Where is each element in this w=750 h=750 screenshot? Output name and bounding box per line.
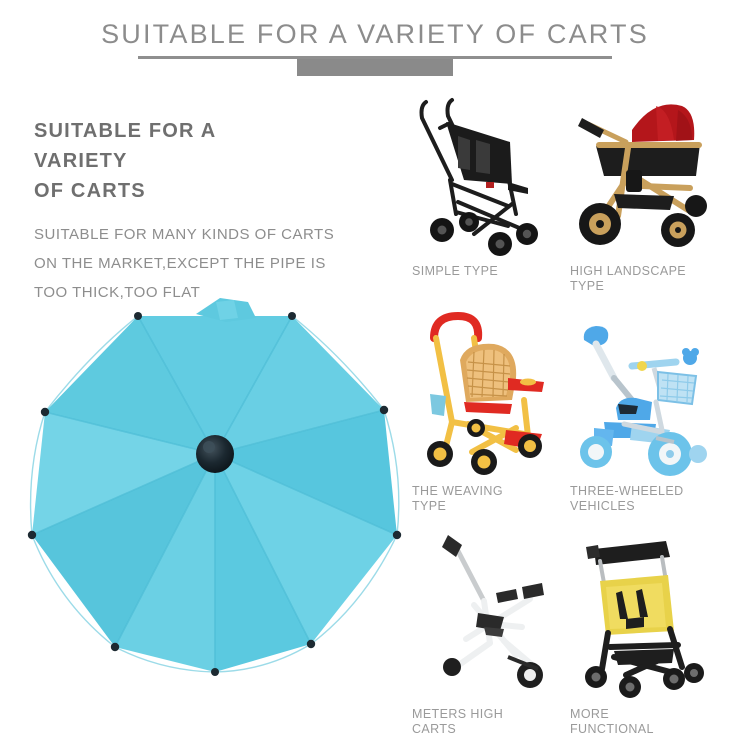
intro-body-line-1: SUITABLE FOR MANY KINDS OF CARTS	[34, 226, 334, 243]
cart-label-line-2: VEHICLES	[570, 499, 635, 513]
cart-card-the-weaving-type: THE WEAVING TYPE	[412, 304, 564, 522]
intro-body-line-2: ON THE MARKET,EXCEPT THE PIPE IS	[34, 255, 326, 272]
cart-photo-high-landscape-type	[570, 84, 722, 262]
more-functional-stroller-illustration	[570, 527, 722, 705]
cart-label-meters-high-carts: METERS HIGH CARTS	[412, 707, 552, 737]
cart-label-line-1: MORE	[570, 707, 609, 721]
wicker-seat	[460, 344, 516, 402]
product-umbrella-photo	[20, 292, 410, 687]
cart-label-three-wheeled-vehicles: THREE-WHEELED VEHICLES	[570, 484, 710, 514]
umbrella-hub	[196, 435, 234, 473]
intro-text-block: SUITABLE FOR A VARIETY OF CARTS SUITABLE…	[34, 116, 384, 307]
high-landscape-stroller-illustration	[570, 84, 722, 262]
cart-label-high-landscape-type: HIGH LANDSCAPE TYPE	[570, 264, 710, 294]
cart-label-simple-type: SIMPLE TYPE	[412, 264, 552, 279]
intro-heading: SUITABLE FOR A VARIETY OF CARTS	[34, 116, 304, 206]
cart-label-line-1: THREE-WHEELED	[570, 484, 684, 498]
cart-photo-three-wheeled-vehicles	[570, 304, 722, 482]
cart-card-meters-high-carts: METERS HIGH CARTS	[412, 527, 564, 745]
cart-label-line-1: HIGH LANDSCAPE	[570, 264, 686, 278]
cart-photo-simple-type	[412, 84, 564, 262]
header-accent-block	[297, 59, 453, 76]
cart-photo-the-weaving-type	[412, 304, 564, 482]
cart-card-simple-type: SIMPLE TYPE	[412, 84, 564, 302]
tricycle-illustration	[570, 304, 722, 482]
cart-label-line-1: METERS HIGH	[412, 707, 503, 721]
intro-heading-line-1: SUITABLE FOR A VARIETY	[34, 120, 216, 172]
cart-label-line-2: TYPE	[570, 279, 604, 293]
umbrella-illustration	[20, 292, 410, 687]
cart-card-high-landscape-type: HIGH LANDSCAPE TYPE	[570, 84, 722, 302]
cart-label-line-1: THE WEAVING	[412, 484, 503, 498]
page-header: SUITABLE FOR A VARIETY OF CARTS	[0, 0, 750, 86]
cart-type-grid: SIMPLE TYPE	[412, 84, 742, 744]
cart-label-line-2: TYPE	[412, 499, 446, 513]
simple-stroller-illustration	[412, 84, 564, 262]
cart-label-line-2: FUNCTIONAL	[570, 722, 654, 736]
canopy-red	[632, 104, 694, 142]
page-title: SUITABLE FOR A VARIETY OF CARTS	[0, 19, 750, 50]
cart-label-line-1: SIMPLE TYPE	[412, 264, 498, 278]
cart-card-more-functional: MORE FUNCTIONAL	[570, 527, 722, 745]
cart-photo-meters-high-carts	[412, 527, 564, 705]
weaving-stroller-illustration	[412, 304, 564, 482]
cart-label-the-weaving-type: THE WEAVING TYPE	[412, 484, 552, 514]
cart-card-three-wheeled-vehicles: THREE-WHEELED VEHICLES	[570, 304, 722, 522]
intro-heading-line-2: OF CARTS	[34, 180, 146, 202]
cart-photo-more-functional	[570, 527, 722, 705]
cart-label-more-functional: MORE FUNCTIONAL	[570, 707, 710, 737]
meters-high-cart-illustration	[412, 527, 564, 705]
cart-label-line-2: CARTS	[412, 722, 456, 736]
